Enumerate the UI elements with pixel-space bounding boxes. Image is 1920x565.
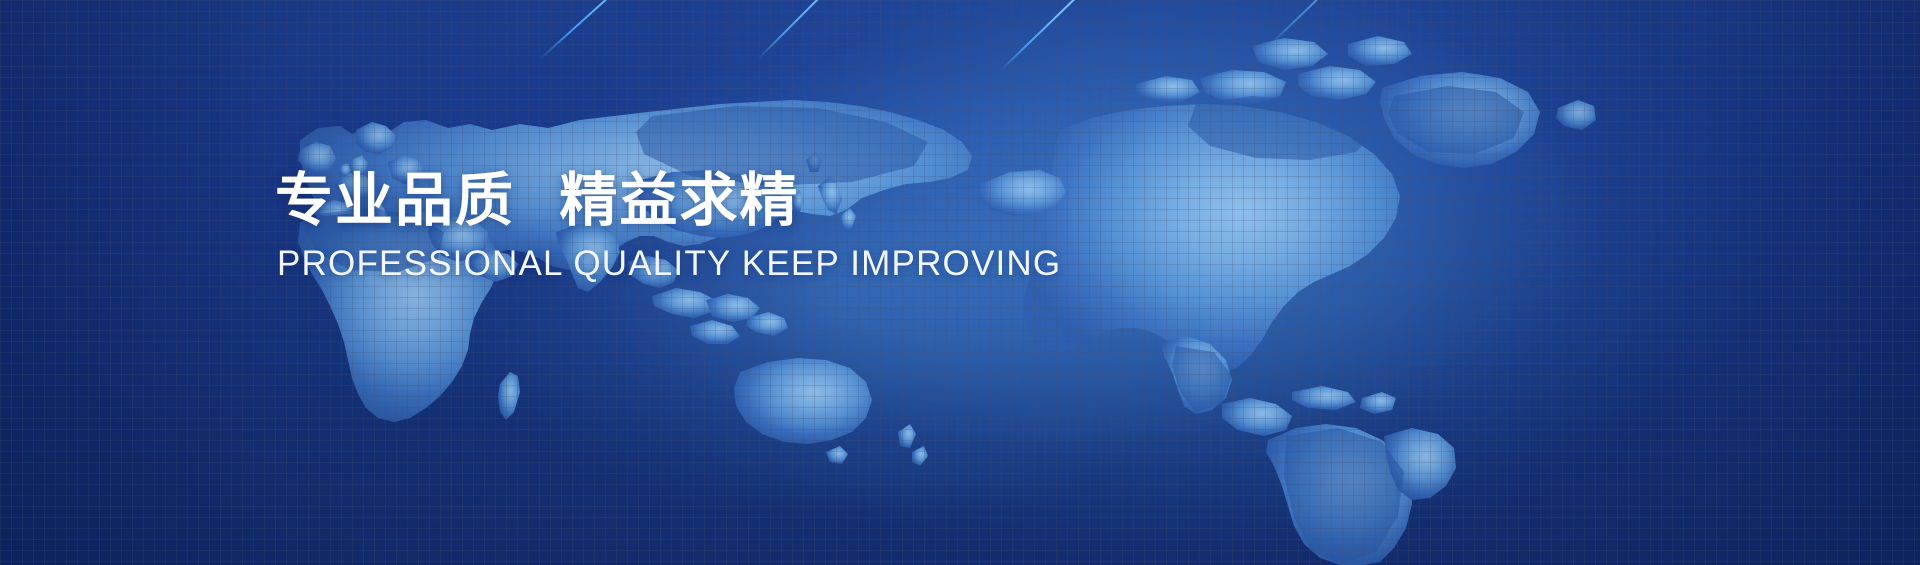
banner-copy: 专业品质 精益求精 PROFESSIONAL QUALITY KEEP IMPR… [275,168,1175,285]
banner-headline-cn: 专业品质 精益求精 [275,168,1175,233]
banner-subline-en: PROFESSIONAL QUALITY KEEP IMPROVING [277,243,1175,285]
hero-banner: 专业品质 精益求精 PROFESSIONAL QUALITY KEEP IMPR… [0,0,1920,565]
